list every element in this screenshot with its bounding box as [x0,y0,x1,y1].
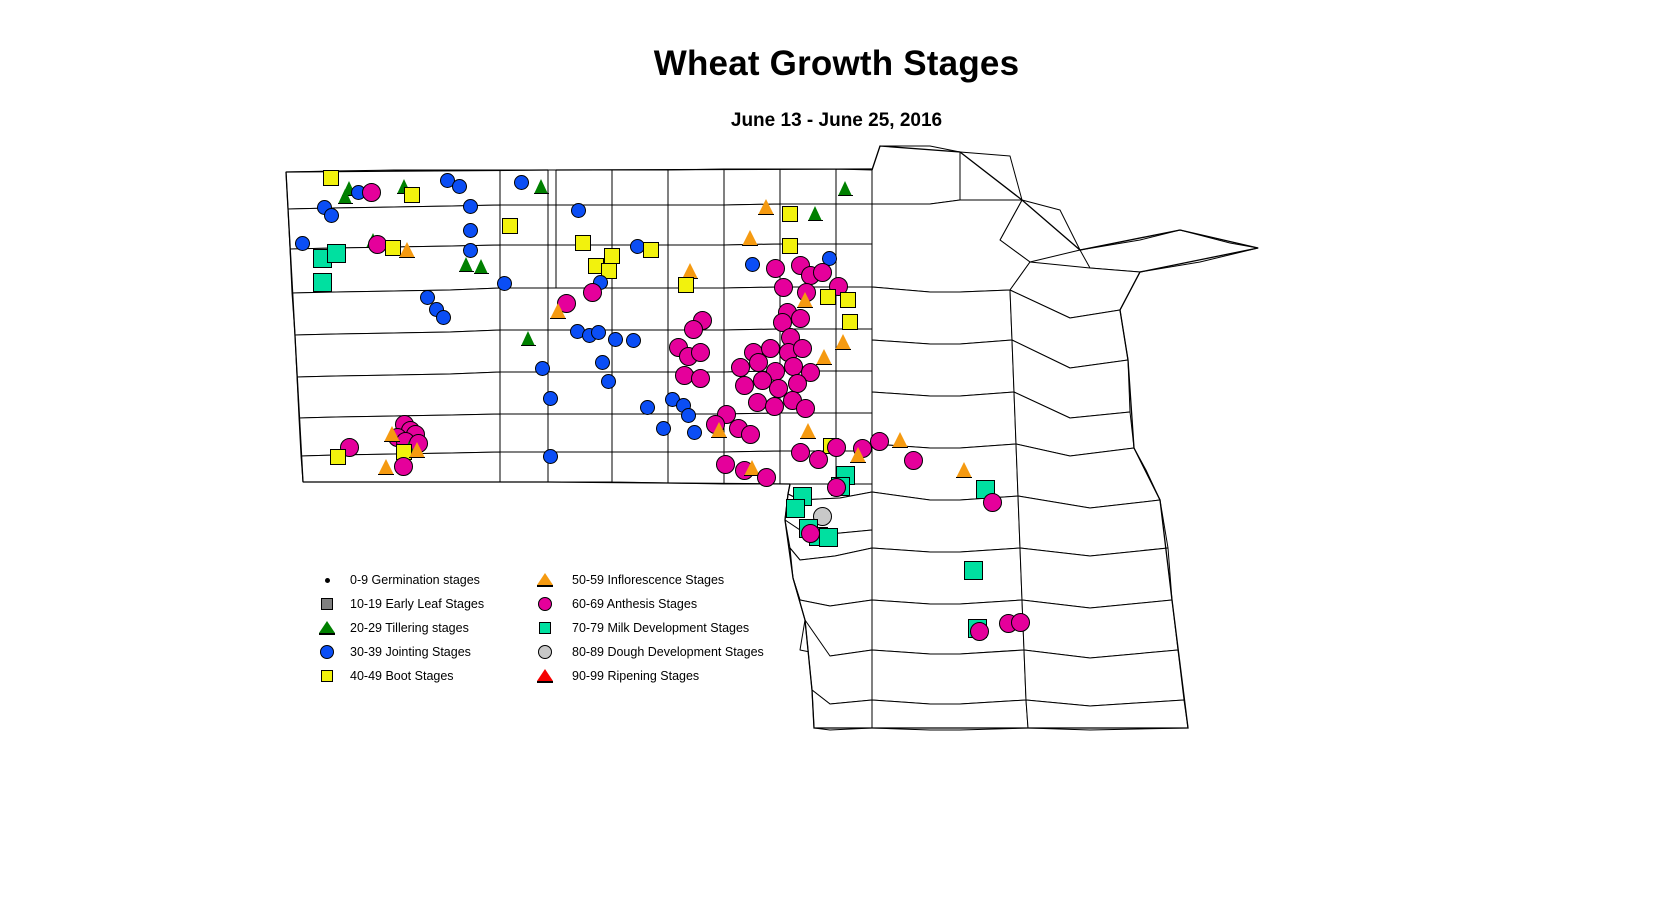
circle-icon [538,645,552,659]
legend-item-50-59[interactable]: 50-59 Inflorescence Stages [536,568,796,592]
circle-icon [320,645,334,659]
triangle-icon [319,621,335,633]
circle-swatch-icon [318,640,340,664]
triangle-swatch-icon [318,616,340,640]
legend-item-label: 20-29 Tillering stages [350,616,469,640]
legend-item-60-69[interactable]: 60-69 Anthesis Stages [536,592,796,616]
triangle-base-icon [537,681,553,683]
square-icon [321,670,333,682]
legend-item-10-19[interactable]: 10-19 Early Leaf Stages [318,592,518,616]
triangle-base-icon [319,633,335,635]
square-swatch-icon [536,616,558,640]
square-swatch-icon [318,664,340,688]
legend-item-label: 50-59 Inflorescence Stages [572,568,724,592]
legend-item-label: 10-19 Early Leaf Stages [350,592,484,616]
legend-item-label: 80-89 Dough Development Stages [572,640,764,664]
circle-icon [538,597,552,611]
square-swatch-icon [318,592,340,616]
legend-item-40-49[interactable]: 40-49 Boot Stages [318,664,518,688]
circle-swatch-icon [536,640,558,664]
circle-swatch-icon [536,592,558,616]
legend-item-label: 60-69 Anthesis Stages [572,592,697,616]
dot-icon [325,578,330,583]
legend-item-label: 0-9 Germination stages [350,568,480,592]
county-outline-map [0,0,1673,900]
square-icon [321,598,333,610]
legend-item-0-9[interactable]: 0-9 Germination stages [318,568,518,592]
legend-item-label: 40-49 Boot Stages [350,664,454,688]
legend-item-80-89[interactable]: 80-89 Dough Development Stages [536,640,796,664]
map-legend: 0-9 Germination stages10-19 Early Leaf S… [318,568,788,668]
wheat-growth-stages-map [0,0,1673,900]
triangle-icon [537,573,553,585]
triangle-swatch-icon [536,664,558,688]
triangle-icon [537,669,553,681]
legend-item-label: 70-79 Milk Development Stages [572,616,749,640]
triangle-base-icon [537,585,553,587]
legend-item-70-79[interactable]: 70-79 Milk Development Stages [536,616,796,640]
legend-item-label: 90-99 Ripening Stages [572,664,699,688]
dot-swatch-icon [318,568,340,592]
square-icon [539,622,551,634]
legend-column-left: 0-9 Germination stages10-19 Early Leaf S… [318,568,518,688]
legend-item-20-29[interactable]: 20-29 Tillering stages [318,616,518,640]
legend-column-right: 50-59 Inflorescence Stages60-69 Anthesis… [536,568,796,688]
legend-item-30-39[interactable]: 30-39 Jointing Stages [318,640,518,664]
legend-item-label: 30-39 Jointing Stages [350,640,471,664]
legend-item-90-99[interactable]: 90-99 Ripening Stages [536,664,796,688]
triangle-swatch-icon [536,568,558,592]
